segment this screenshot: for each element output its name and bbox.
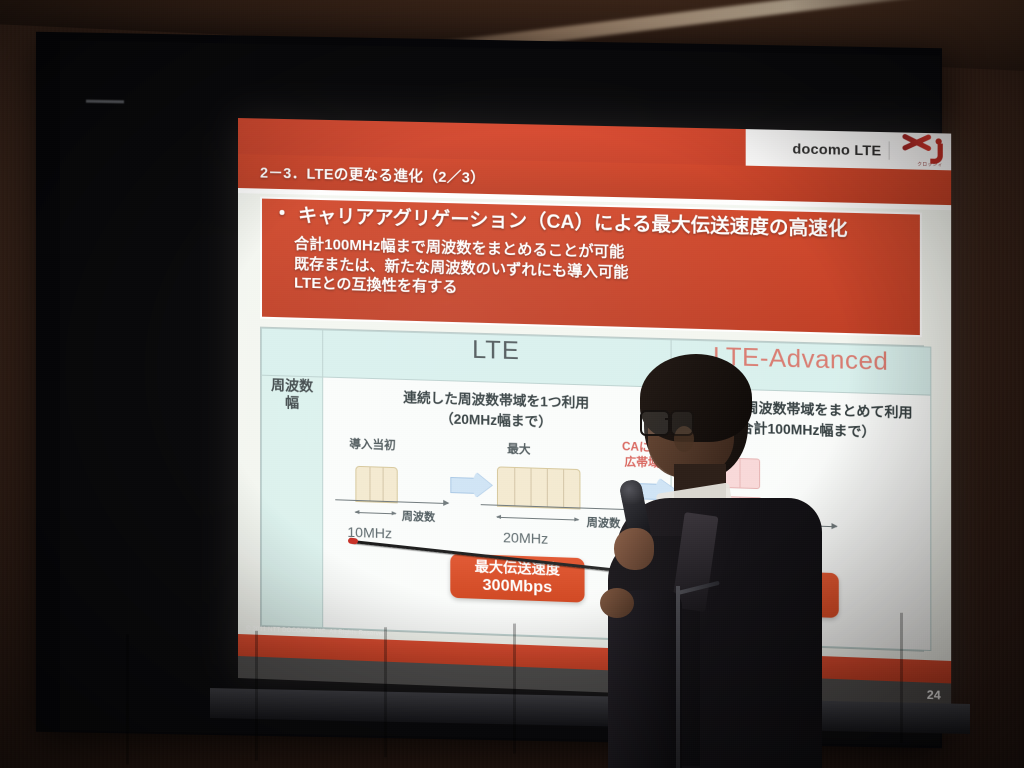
frame-glint	[86, 100, 124, 104]
row-label-line1: 周波数	[263, 377, 321, 396]
lte-bandwidth-20mhz: 20MHz	[503, 529, 548, 547]
docomo-lte-logo: docomo LTE クロッシィ	[785, 132, 945, 168]
lte-axis-label-initial: 周波数	[402, 508, 435, 525]
docomo-lte-wordmark: docomo LTE	[785, 139, 889, 160]
photo-scene: docomo LTE クロッシィ 2－3．LTEの更なる進化（2／3） ・ キャ…	[0, 0, 1024, 768]
headline-block: ・ キャリアアグリゲーション（CA）による最大伝送速度の高速化 合計100MHz…	[260, 197, 922, 338]
lte-badge-line2: 300Mbps	[460, 575, 574, 598]
headline-subpoints: 合計100MHz幅まで周波数をまとめることが可能 既存または、新たな周波数のいず…	[272, 234, 909, 311]
lte-dim-10mhz	[355, 512, 395, 514]
bullet-marker: ・	[272, 205, 292, 224]
row-label-bandwidth: 周波数 幅	[262, 375, 323, 627]
presenter-glasses-icon	[640, 410, 706, 434]
lte-transition-arrow-icon	[450, 469, 491, 501]
lte-spectrum-block-20mhz	[497, 467, 581, 510]
column-header-lte-label: LTE	[472, 336, 520, 366]
row-label-line2: 幅	[263, 394, 321, 413]
presenter-hand-holding-pointer	[600, 588, 634, 618]
xi-logo-subtext: クロッシィ	[917, 161, 943, 168]
pointer-baton-tip	[348, 537, 359, 544]
lte-dim-20mhz	[497, 517, 578, 521]
corner-cell	[262, 328, 323, 377]
lte-stage-label-initial: 導入当初	[349, 436, 395, 454]
slide-title: 2－3．LTEの更なる進化（2／3）	[238, 161, 485, 188]
lte-spectrum-block-10mhz	[355, 466, 397, 504]
xi-logo-icon: クロッシィ	[897, 135, 945, 167]
presenter-hand-holding-mic	[614, 528, 654, 570]
presenter	[600, 352, 840, 768]
lte-stage-label-max: 最大	[507, 441, 530, 458]
microphone-stand	[676, 586, 680, 768]
